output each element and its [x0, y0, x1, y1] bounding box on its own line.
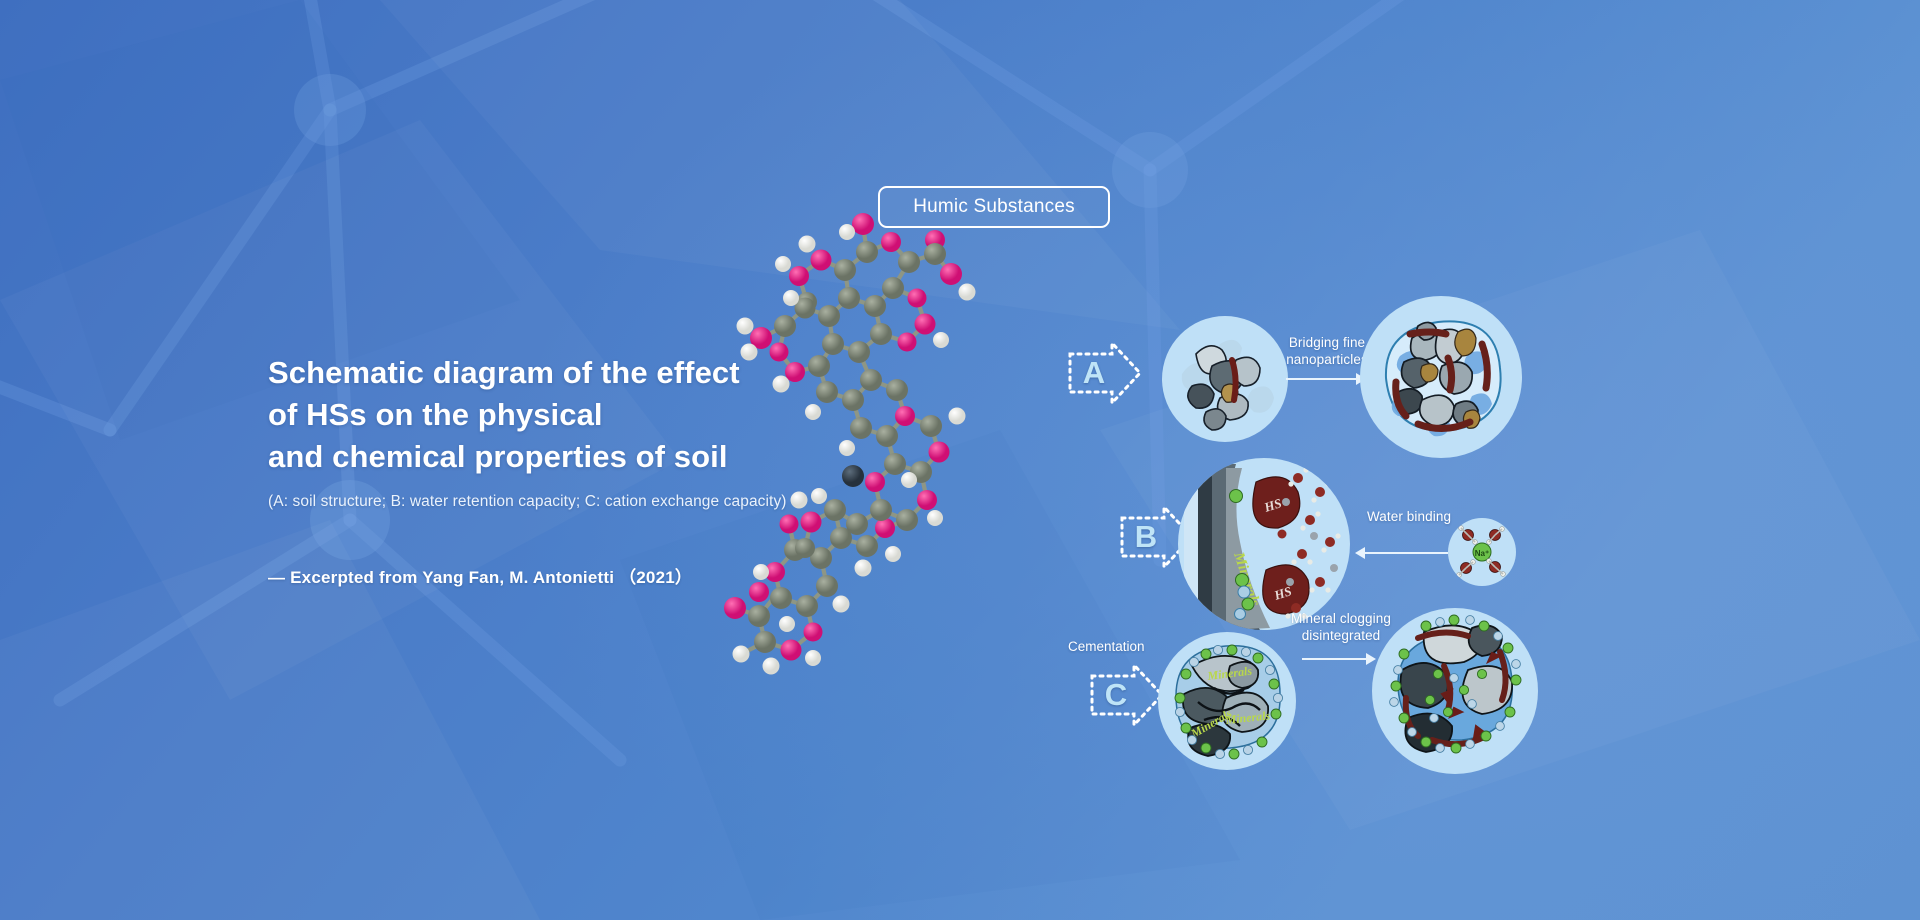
- connector-c-line: [1302, 658, 1368, 660]
- connector-a: Bridging fine nanoparticles: [1294, 334, 1360, 394]
- connector-b-label: Water binding: [1334, 508, 1484, 525]
- cementation-label: Cementation: [1068, 638, 1145, 655]
- poster-background: Schematic diagram of the effect of HSs o…: [0, 0, 1920, 920]
- circle-disintegrated-mineral-aggregate: [1372, 608, 1538, 774]
- connector-a-line: [1286, 378, 1358, 380]
- circle-hydrated-sodium-ion: Na⁺: [1448, 518, 1516, 586]
- inner-label-na-ion: Na⁺: [1475, 549, 1489, 558]
- circle-aggregated-soil-particles: [1360, 296, 1522, 458]
- connector-b-line: [1364, 552, 1448, 554]
- step-letter-c: C: [1088, 660, 1166, 730]
- step-letter-a: A: [1066, 338, 1144, 408]
- connector-b-arrowhead-icon: [1355, 547, 1365, 559]
- connector-c-label-line-1: Mineral clogging: [1266, 610, 1416, 627]
- step-arrow-c: C: [1088, 660, 1166, 730]
- humic-substances-label-text: Humic Substances: [913, 196, 1075, 218]
- humic-substance-molecule-icon: [695, 180, 1035, 700]
- schematic-diagram: Humic Substances A: [820, 120, 1910, 800]
- connector-b-label-line-1: Water binding: [1334, 508, 1484, 525]
- humic-substances-label: Humic Substances: [878, 186, 1110, 228]
- circle-hs-mineral-water-shell: Minerals HS HS: [1178, 458, 1350, 630]
- step-arrow-a: A: [1066, 338, 1144, 408]
- connector-b: Water binding: [1354, 508, 1446, 568]
- connector-c-arrowhead-icon: [1366, 653, 1376, 665]
- circle-cemented-mineral-aggregate: Minerals Minerals Minerals: [1158, 632, 1296, 770]
- connector-c: Mineral clogging disintegrated: [1306, 610, 1376, 670]
